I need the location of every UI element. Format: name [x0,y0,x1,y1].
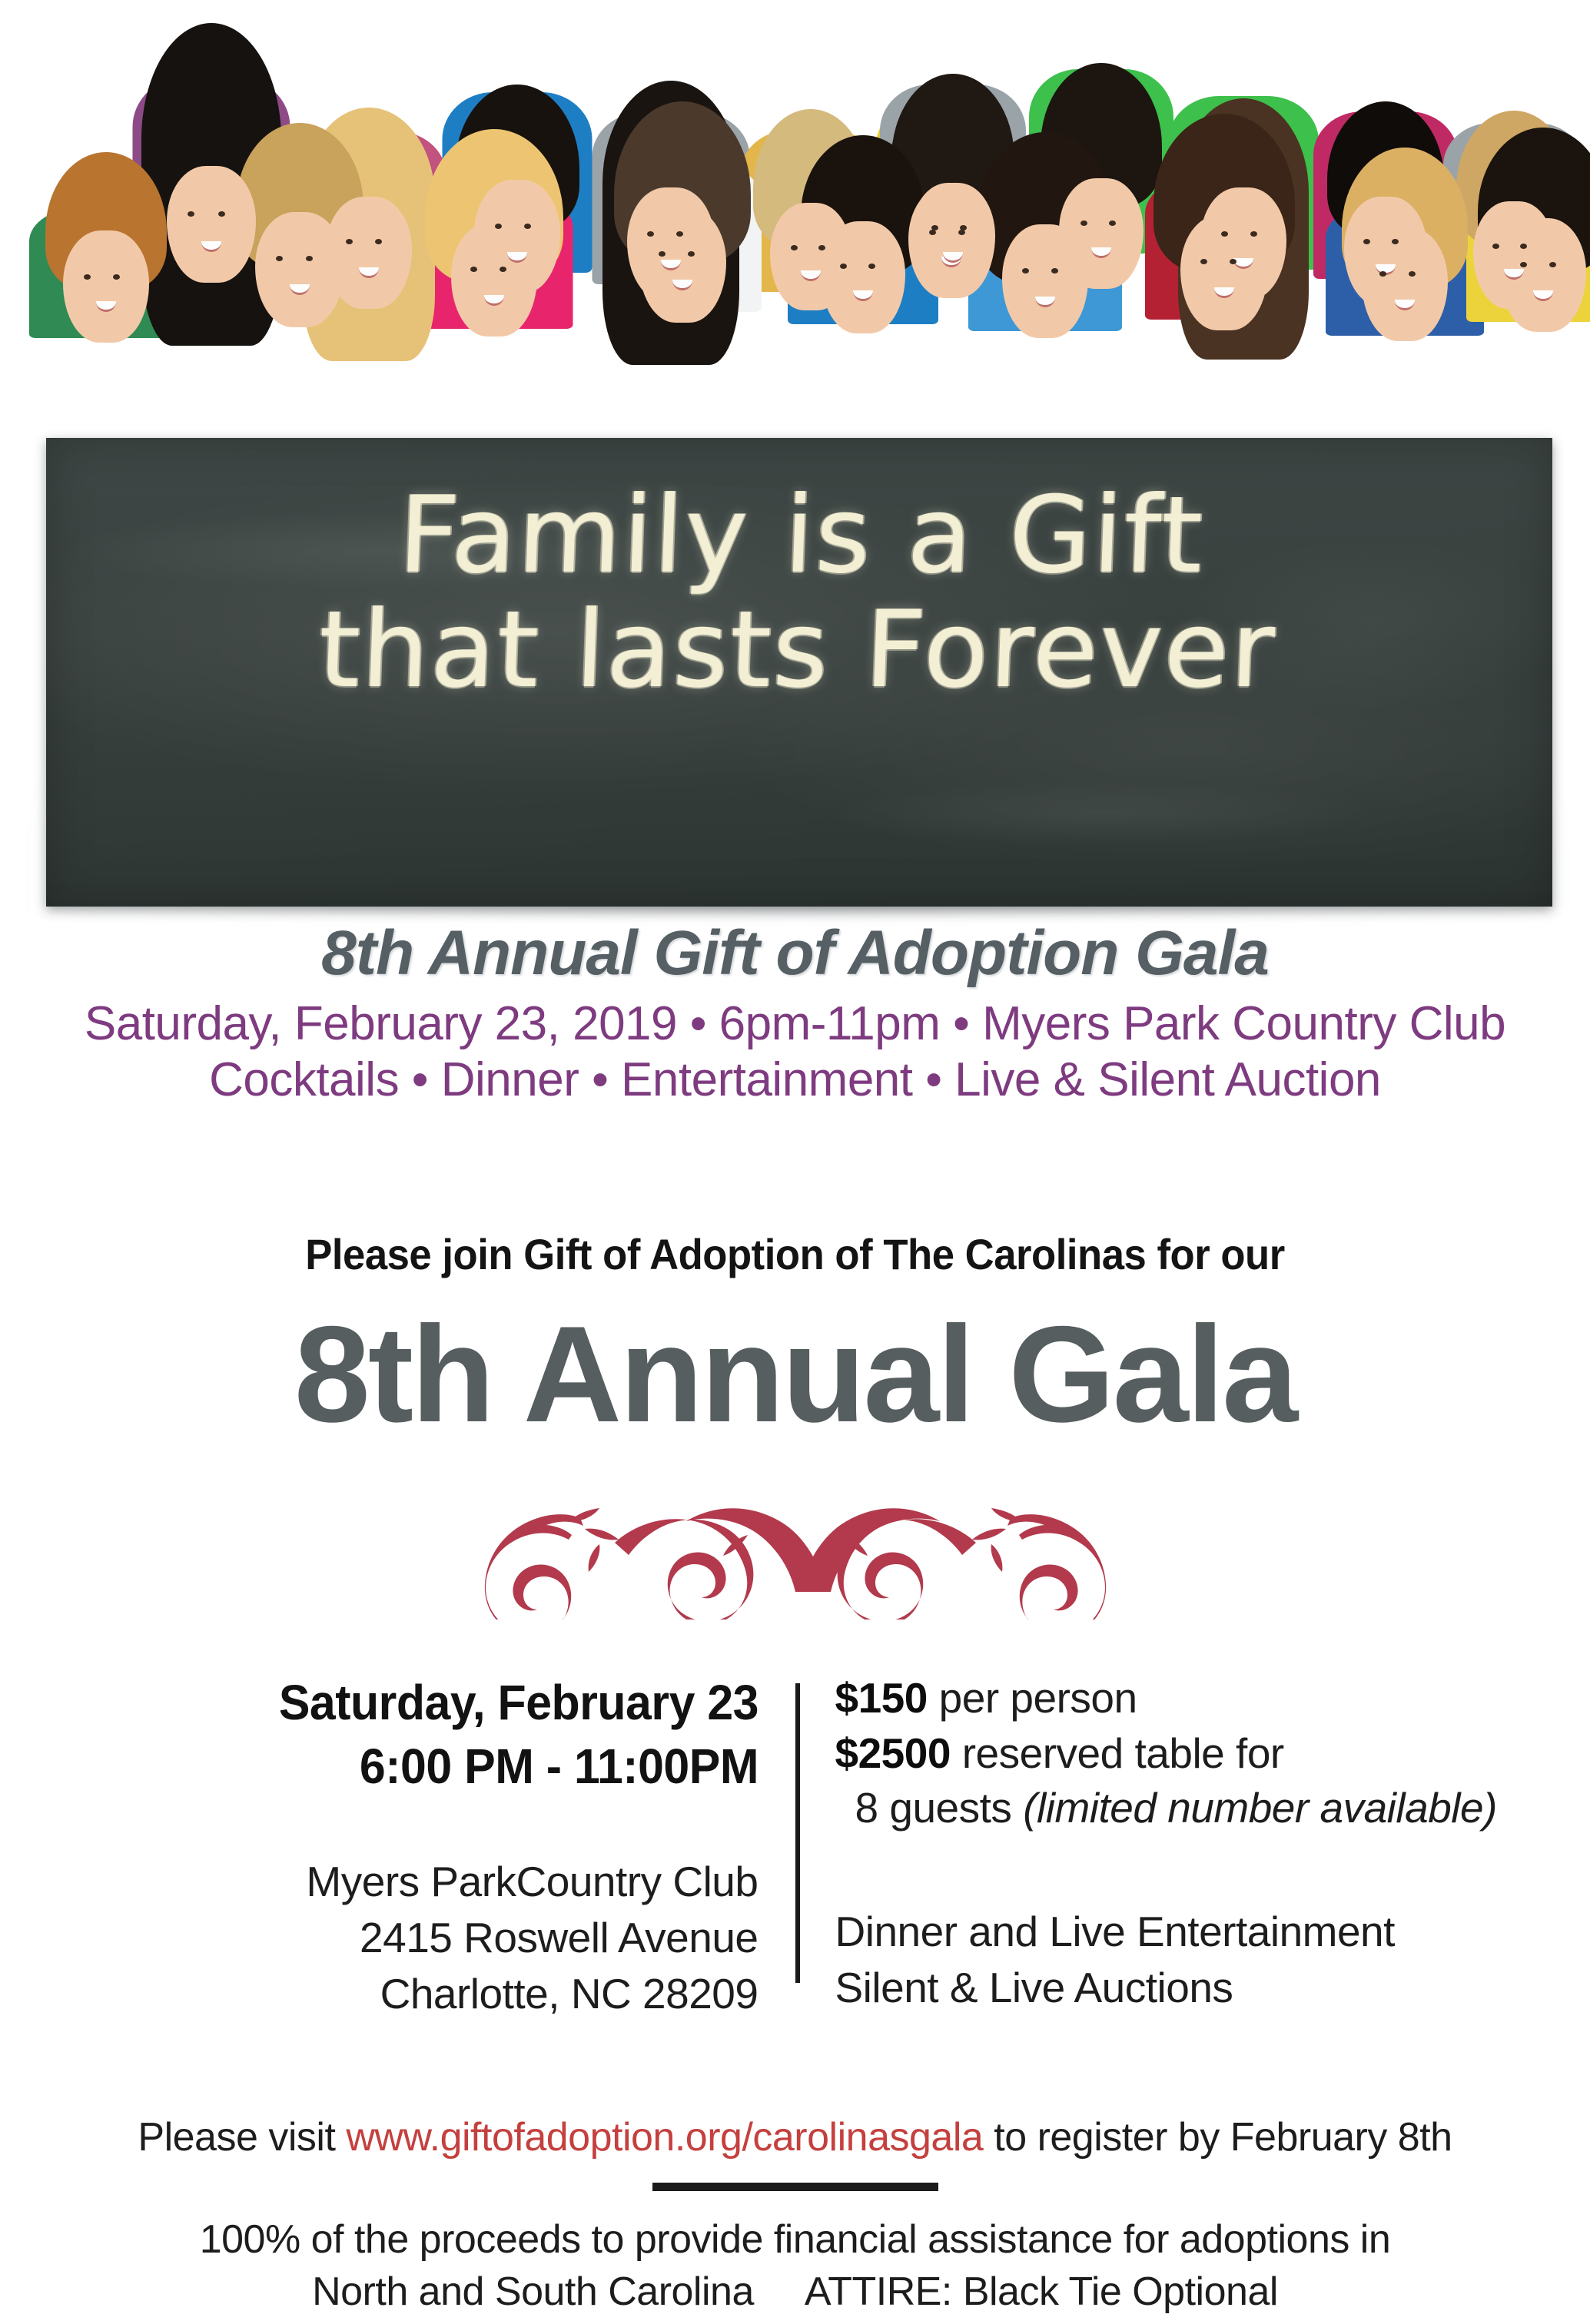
price-per-person-label: per person [928,1674,1137,1722]
registration-prefix: Please visit [138,2115,346,2160]
venue-name: Myers ParkCountry Club [81,1854,758,1910]
price-table-label: reserved table for [951,1729,1284,1777]
price-table: $2500 reserved table for [835,1726,1510,1782]
venue-block: Myers ParkCountry Club 2415 Roswell Aven… [81,1854,758,2021]
program-block: Dinner and Live Entertainment Silent & L… [835,1904,1510,2017]
price-table-availability-note: (limited number available) [1023,1784,1497,1832]
vertical-divider [795,1683,800,1983]
venue-street: 2415 Roswell Avenue [81,1910,758,1966]
horizontal-rule-divider [652,2183,938,2191]
pricing-and-program-column: $150 per person $2500 reserved table for… [795,1671,1510,2021]
proceeds-and-attire-note: 100% of the proceeds to provide financia… [0,2214,1590,2318]
chalkboard-quote: Family is a Gift that lasts Forever [46,478,1552,707]
proceeds-attire-line: North and South CarolinaATTIRE: Black Ti… [0,2266,1590,2319]
proceeds-note-line-1: 100% of the proceeds to provide financia… [0,2214,1590,2266]
invite-lead-text: Please join Gift of Adoption of The Caro… [48,1229,1542,1279]
children-group-photo [0,0,1590,461]
when-and-where-column: Saturday, February 23 6:00 PM - 11:00PM … [81,1671,795,2021]
price-table-amount: $2500 [835,1729,951,1777]
event-title: 8th Annual Gift of Adoption Gala [0,922,1590,985]
event-time: 6:00 PM - 11:00PM [115,1735,758,1799]
decorative-flourish-ornament [388,1504,1203,1620]
children-photo-banner [0,0,1590,461]
invite-headline: 8th Annual Gala [0,1306,1590,1443]
event-details: Saturday, February 23, 2019 • 6pm-11pm •… [0,996,1590,1108]
proceeds-note-line-2: North and South Carolina [312,2269,754,2314]
program-auctions: Silent & Live Auctions [835,1960,1510,2017]
price-table-guests: 8 guests [855,1784,1024,1832]
event-summary: 8th Annual Gift of Adoption Gala Saturda… [0,922,1590,1108]
event-details-line-1: Saturday, February 23, 2019 • 6pm-11pm •… [0,996,1590,1052]
venue-city-state-zip: Charlotte, NC 28209 [81,1966,758,2022]
attire-note: ATTIRE: Black Tie Optional [805,2269,1278,2314]
price-per-person: $150 per person [835,1671,1510,1726]
event-date: Saturday, February 23 [115,1671,758,1735]
registration-suffix: to register by February 8th [983,2115,1452,2160]
program-dinner-entertainment: Dinner and Live Entertainment [835,1904,1510,1961]
price-table-detail: 8 guests (limited number available) [835,1781,1510,1836]
event-details-line-2: Cocktails • Dinner • Entertainment • Liv… [0,1052,1590,1108]
price-per-person-amount: $150 [835,1674,928,1722]
registration-url-link[interactable]: www.giftofadoption.org/carolinasgala [346,2115,983,2160]
event-details-grid: Saturday, February 23 6:00 PM - 11:00PM … [0,1671,1590,2021]
registration-line: Please visit www.giftofadoption.org/caro… [0,2114,1590,2160]
chalkboard: Family is a Gift that lasts Forever [46,438,1552,907]
